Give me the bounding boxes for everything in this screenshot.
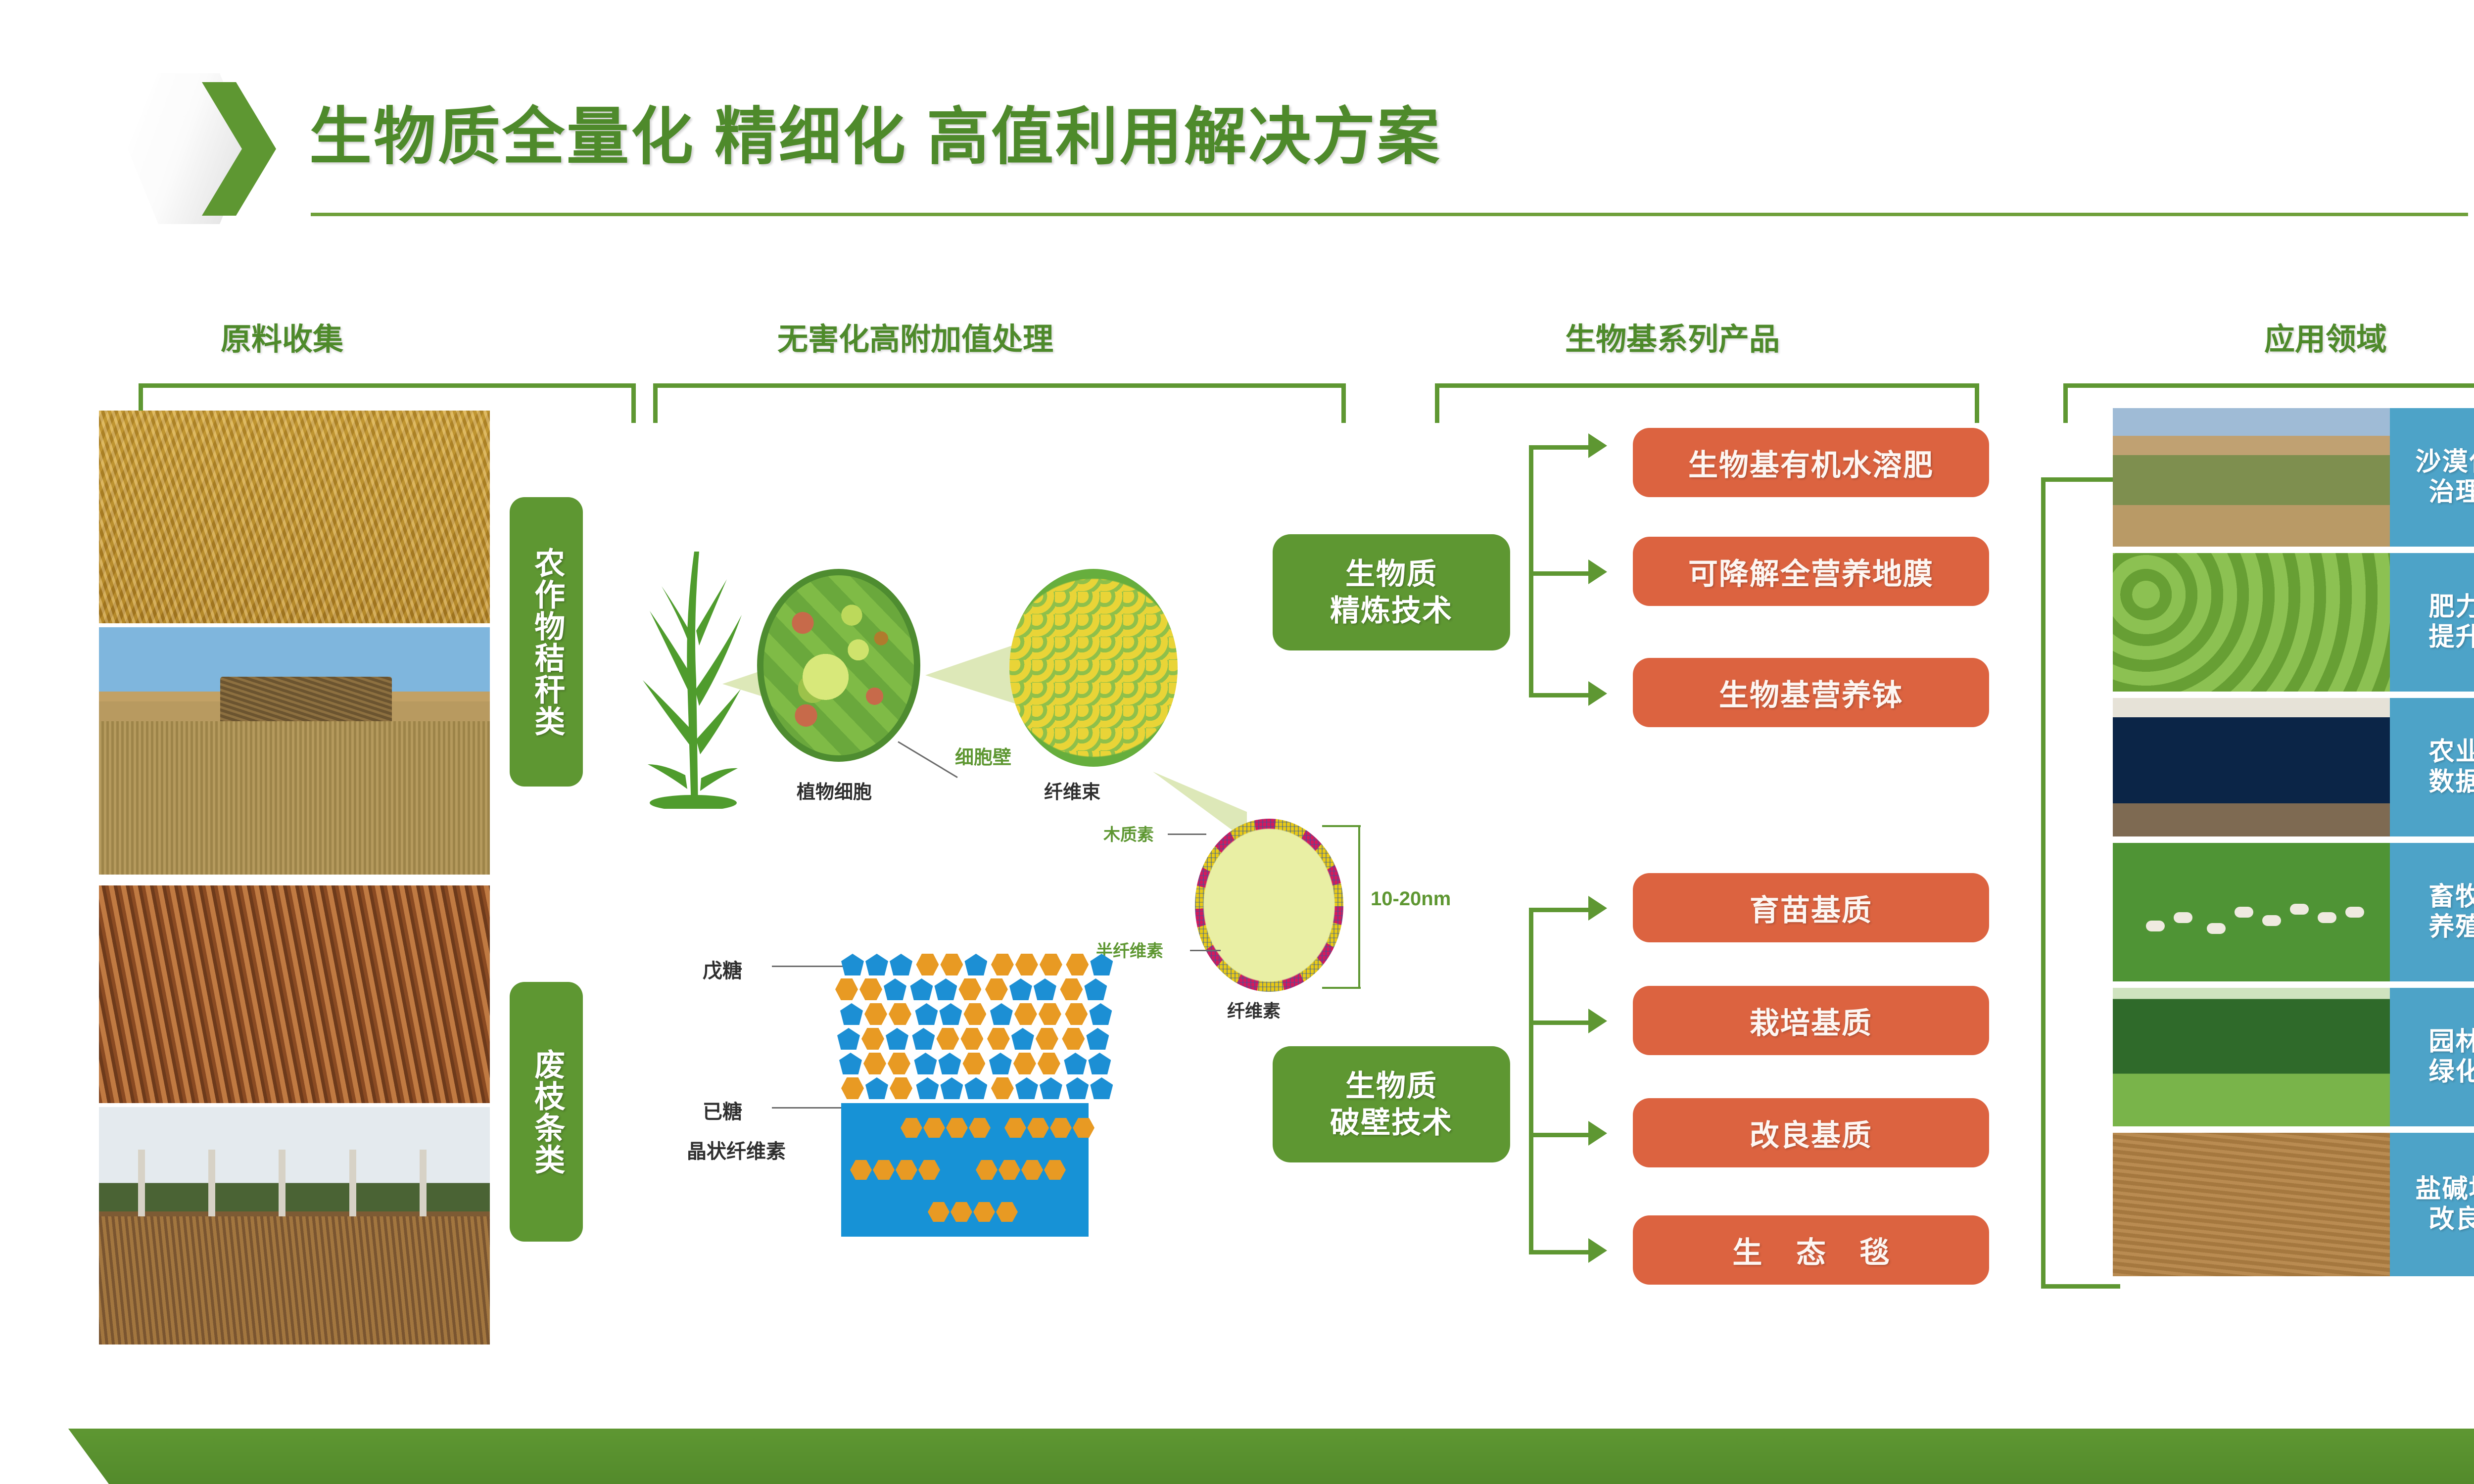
connector-wallbreaking-branch-1 — [1529, 908, 1593, 912]
tech-box-refining[interactable]: 生物质 精炼技术 — [1273, 534, 1510, 650]
connector-refining-branch-2 — [1529, 571, 1593, 576]
label-hexose: 已糖 — [703, 1096, 742, 1124]
connector-refining-branch-1 — [1529, 445, 1593, 450]
tech-wallbreaking-line1: 生物质 — [1345, 1068, 1437, 1104]
photo-park-greening — [2113, 988, 2390, 1126]
applications-bracket-top — [2041, 477, 2120, 482]
application-row-fertility[interactable]: 肥力 提升 — [2113, 553, 2474, 692]
photo-data-control-room — [2113, 698, 2390, 836]
feedstock-category-waste-branch: 废枝条类 — [510, 982, 583, 1242]
label-fiber-dimension: 10-20nm — [1371, 888, 1451, 910]
application-row-desertification[interactable]: 沙漠化 治理 — [2113, 408, 2474, 547]
applications-bracket-left — [2041, 477, 2046, 1289]
section-header-processing: 无害化高附加值处理 — [668, 314, 1163, 359]
application-label-landscaping: 园林 绿化 — [2390, 988, 2474, 1126]
tech-wallbreaking-line2: 破壁技术 — [1330, 1105, 1453, 1141]
application-row-livestock[interactable]: 畜牧 养殖 — [2113, 843, 2474, 981]
photo-straw-bale-field — [99, 627, 490, 875]
grass-plant-icon — [636, 532, 750, 809]
arrow-refining-2 — [1588, 559, 1607, 584]
hexagon-logo-icon — [128, 73, 276, 224]
arrow-wallbreaking-1 — [1588, 896, 1607, 921]
connector-wallbreaking-branch-2 — [1529, 1020, 1593, 1025]
plant-cell-illustration — [757, 569, 920, 762]
product-box-cultivation-substrate[interactable]: 栽培基质 — [1633, 986, 1989, 1055]
section-header-collection: 原料收集 — [99, 314, 465, 359]
application-row-saline-alkali[interactable]: 盐碱地 改良 — [2113, 1133, 2474, 1276]
arrow-wallbreaking-2 — [1588, 1009, 1607, 1033]
product-box-seedling-substrate[interactable]: 育苗基质 — [1633, 873, 1989, 942]
page-title: 生物质全量化 精细化 高值利用解决方案 — [309, 87, 1441, 177]
connector-wallbreaking-branch-3 — [1529, 1133, 1593, 1137]
connector-refining-branch-3 — [1529, 693, 1593, 697]
application-row-agri-data[interactable]: 农业 数据 — [2113, 698, 2474, 836]
application-label-saline-alkali: 盐碱地 改良 — [2390, 1133, 2474, 1276]
photo-desertification-site — [2113, 408, 2390, 547]
sugar-chain-diagram — [841, 954, 1123, 1107]
photo-vineyard-pruning — [99, 1107, 490, 1345]
product-box-improvement-substrate[interactable]: 改良基质 — [1633, 1098, 1989, 1167]
arrow-wallbreaking-4 — [1588, 1238, 1607, 1263]
applications-bracket-bottom — [2041, 1284, 2120, 1289]
photo-corn-straw-closeup — [99, 411, 490, 623]
arrow-wallbreaking-3 — [1588, 1121, 1607, 1146]
bracket-processing — [653, 383, 1346, 423]
photo-pruned-branches — [99, 885, 490, 1103]
application-label-desertification: 沙漠化 治理 — [2390, 408, 2474, 547]
feedstock-category-crop-straw: 农作物秸秆类 — [510, 497, 583, 787]
label-cell-wall: 细胞壁 — [955, 742, 1011, 769]
bracket-products — [1435, 383, 1979, 423]
product-box-biobased-nutrient-pot[interactable]: 生物基营养钵 — [1633, 658, 1989, 727]
section-header-products: 生物基系列产品 — [1425, 314, 1920, 359]
label-cellulose: 纤维素 — [1227, 997, 1281, 1022]
label-fiber-bundle: 纤维束 — [1044, 777, 1100, 804]
arrow-refining-3 — [1588, 681, 1607, 706]
fiber-bundle-illustration — [1009, 569, 1178, 767]
crystalline-cellulose-diagram — [841, 1103, 1089, 1237]
leader-lignin — [1168, 834, 1206, 835]
label-crystalline-cellulose: 晶状纤维素 — [687, 1135, 786, 1164]
photo-grazing-sheep — [2113, 843, 2390, 981]
photo-cabbage-field — [2113, 553, 2390, 692]
dimension-line-vertical — [1358, 825, 1360, 988]
product-box-organic-water-soluble-fertilizer[interactable]: 生物基有机水溶肥 — [1633, 428, 1989, 497]
footer-bar — [0, 1429, 2474, 1484]
connector-wallbreaking-branch-4 — [1529, 1250, 1593, 1254]
section-header-applications: 应用领域 — [2108, 314, 2474, 359]
label-pentose: 戊糖 — [703, 955, 742, 983]
dimension-tick-bottom — [1322, 987, 1361, 989]
label-lignin: 木质素 — [1103, 821, 1154, 845]
application-label-livestock: 畜牧 养殖 — [2390, 843, 2474, 981]
dimension-tick-top — [1322, 825, 1361, 827]
product-box-ecological-blanket[interactable]: 生 态 毯 — [1633, 1215, 1989, 1285]
arrow-refining-1 — [1588, 433, 1607, 458]
leader-pentose — [772, 966, 844, 967]
magnify-cone-2 — [925, 643, 1019, 705]
application-row-landscaping[interactable]: 园林 绿化 — [2113, 988, 2474, 1126]
photo-saline-alkali-land — [2113, 1133, 2390, 1276]
title-underline — [311, 213, 2468, 216]
product-box-biodegradable-nutrient-mulch-film[interactable]: 可降解全营养地膜 — [1633, 537, 1989, 606]
application-label-agri-data: 农业 数据 — [2390, 698, 2474, 836]
leader-hemicellulose — [1190, 950, 1221, 951]
application-label-fertility: 肥力 提升 — [2390, 553, 2474, 692]
label-plant-cell: 植物细胞 — [797, 777, 872, 804]
leader-hexose — [772, 1107, 844, 1109]
cellulose-fiber-crosssection — [1195, 819, 1343, 992]
infographic-slide: 生物质全量化 精细化 高值利用解决方案 原料收集 无害化高附加值处理 生物基系列… — [0, 0, 2474, 1484]
leader-cell-wall — [898, 741, 958, 778]
tech-box-wall-breaking[interactable]: 生物质 破壁技术 — [1273, 1046, 1510, 1162]
footer-corner-left — [0, 1336, 109, 1484]
tech-refining-line2: 精炼技术 — [1330, 593, 1453, 629]
tech-refining-line1: 生物质 — [1345, 556, 1437, 592]
connector-wallbreaking-trunk — [1529, 908, 1533, 1254]
